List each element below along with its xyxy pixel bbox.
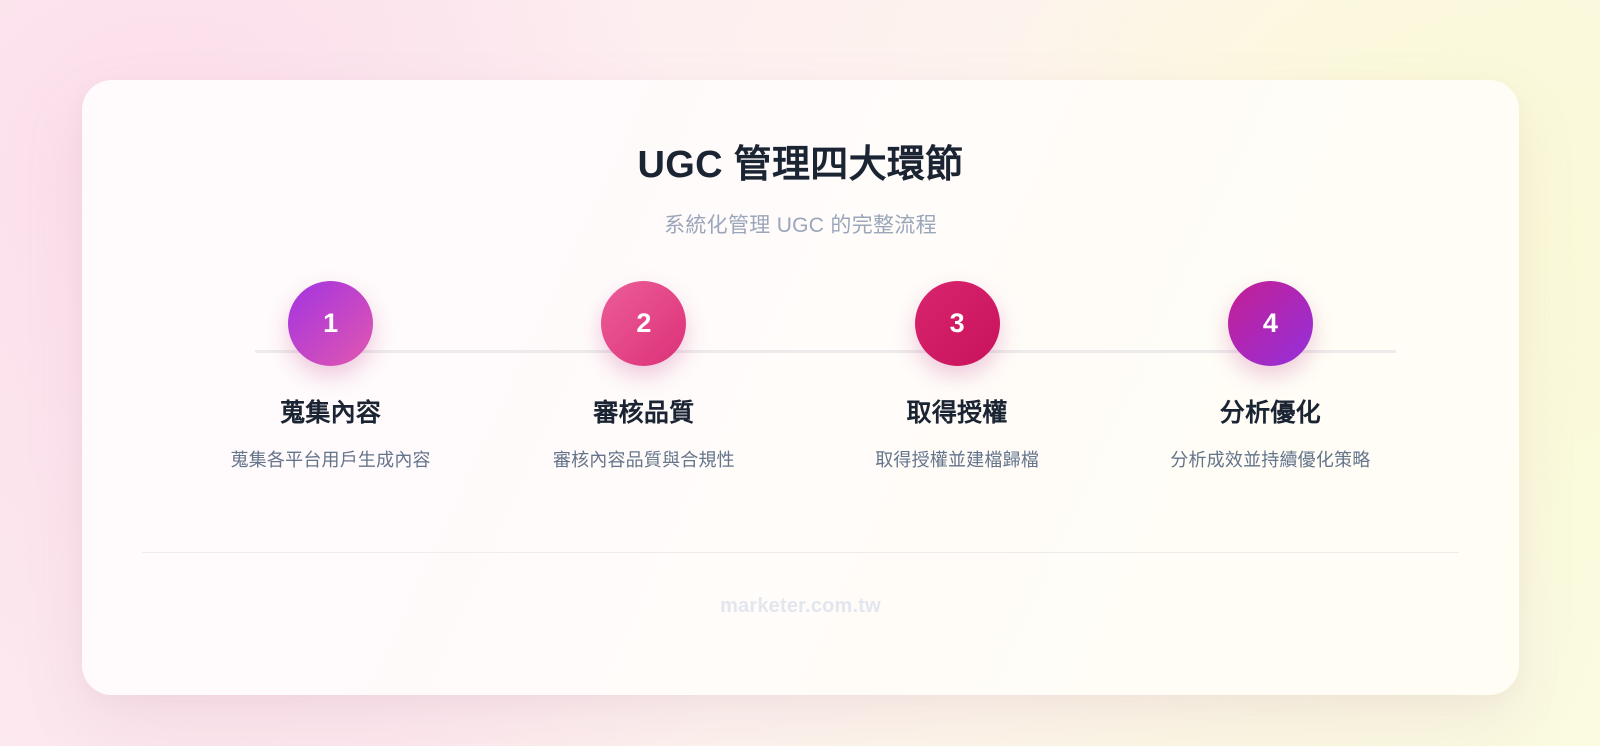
step-description-3: 取得授權並建檔歸檔 xyxy=(875,446,1039,472)
step-number-2: 2 xyxy=(636,310,651,337)
step-item-1[interactable]: 1 蒐集內容 蒐集各平台用戶生成內容 xyxy=(174,281,487,472)
step-title-1: 蒐集內容 xyxy=(280,393,381,429)
step-number-badge-3: 3 xyxy=(915,281,1000,366)
step-description-4: 分析成效並持續優化策略 xyxy=(1170,446,1370,472)
step-number-badge-1: 1 xyxy=(288,281,373,366)
step-title-3: 取得授權 xyxy=(907,393,1008,429)
step-item-4[interactable]: 4 分析優化 分析成效並持續優化策略 xyxy=(1114,281,1427,472)
page-subtitle: 系統化管理 UGC 的完整流程 xyxy=(82,209,1519,239)
step-number-4: 4 xyxy=(1263,310,1278,337)
step-description-1: 蒐集各平台用戶生成內容 xyxy=(231,446,431,472)
step-item-3[interactable]: 3 取得授權 取得授權並建檔歸檔 xyxy=(801,281,1114,472)
brand-watermark: marketer.com.tw xyxy=(82,595,1519,618)
step-title-2: 審核品質 xyxy=(593,393,694,429)
step-number-badge-4: 4 xyxy=(1228,281,1313,366)
step-number-badge-2: 2 xyxy=(601,281,686,366)
infographic-card: UGC 管理四大環節 系統化管理 UGC 的完整流程 1 蒐集內容 蒐集各平台用… xyxy=(82,80,1519,695)
page-title: UGC 管理四大環節 xyxy=(82,143,1519,189)
step-list: 1 蒐集內容 蒐集各平台用戶生成內容 2 審核品質 審核內容品質與合規性 3 取… xyxy=(82,281,1519,472)
step-description-2: 審核內容品質與合規性 xyxy=(553,446,735,472)
step-item-2[interactable]: 2 審核品質 審核內容品質與合規性 xyxy=(487,281,800,472)
step-number-1: 1 xyxy=(323,310,338,337)
card-header: UGC 管理四大環節 系統化管理 UGC 的完整流程 xyxy=(82,80,1519,239)
footer-divider xyxy=(142,552,1459,553)
steps-section: 1 蒐集內容 蒐集各平台用戶生成內容 2 審核品質 審核內容品質與合規性 3 取… xyxy=(82,281,1519,511)
step-number-3: 3 xyxy=(950,310,965,337)
step-title-4: 分析優化 xyxy=(1220,393,1321,429)
card-footer: marketer.com.tw xyxy=(82,595,1519,618)
